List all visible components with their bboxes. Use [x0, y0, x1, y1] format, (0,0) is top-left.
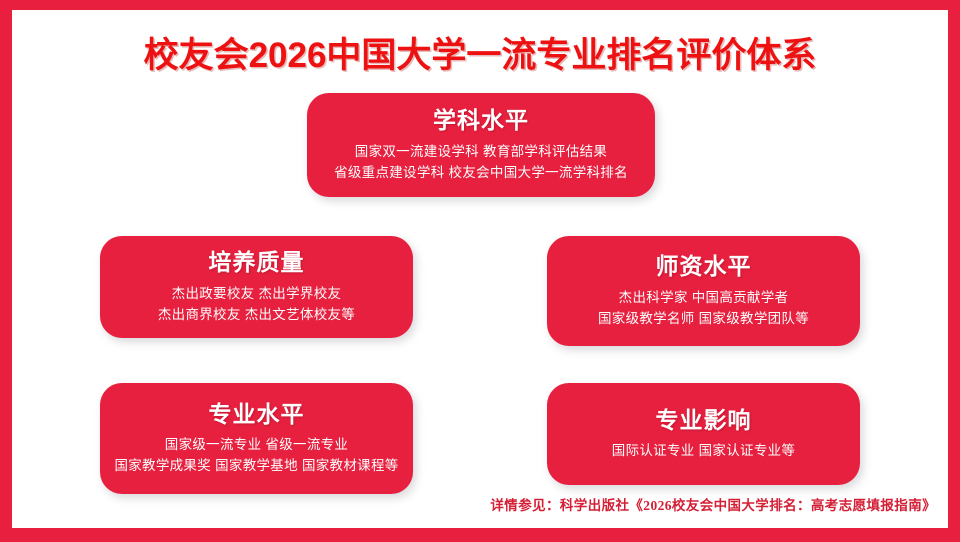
- footer-source-note: 详情参见：科学出版社《2026校友会中国大学排名：高考志愿填报指南》: [490, 494, 936, 514]
- card-major-influence-lines: 国际认证专业 国家认证专业等: [612, 441, 795, 462]
- card-major-influence[interactable]: 专业影响 国际认证专业 国家认证专业等: [547, 383, 860, 485]
- card-faculty-level-line-2: 国家级教学名师 国家级教学团队等: [598, 309, 809, 330]
- card-major-level[interactable]: 专业水平 国家级一流专业 省级一流专业 国家教学成果奖 国家教学基地 国家教材课…: [100, 383, 413, 494]
- card-training-quality-lines: 杰出政要校友 杰出学界校友 杰出商界校友 杰出文艺体校友等: [158, 284, 355, 326]
- card-faculty-level[interactable]: 师资水平 杰出科学家 中国高贡献学者 国家级教学名师 国家级教学团队等: [547, 236, 860, 346]
- card-discipline-line-1: 国家双一流建设学科 教育部学科评估结果: [334, 142, 628, 163]
- card-major-level-title: 专业水平: [209, 400, 305, 429]
- card-training-quality-line-2: 杰出商界校友 杰出文艺体校友等: [158, 305, 355, 326]
- card-major-influence-title: 专业影响: [656, 406, 752, 435]
- card-training-quality-title: 培养质量: [209, 248, 305, 277]
- card-faculty-level-title: 师资水平: [656, 252, 752, 281]
- card-discipline-line-2: 省级重点建设学科 校友会中国大学一流学科排名: [334, 163, 628, 184]
- page-title: 校友会2026中国大学一流专业排名评价体系: [12, 37, 948, 76]
- card-discipline-title: 学科水平: [433, 106, 529, 135]
- card-faculty-level-line-1: 杰出科学家 中国高贡献学者: [598, 288, 809, 309]
- card-faculty-level-lines: 杰出科学家 中国高贡献学者 国家级教学名师 国家级教学团队等: [598, 288, 809, 330]
- card-major-level-lines: 国家级一流专业 省级一流专业 国家教学成果奖 国家教学基地 国家教材课程等: [114, 435, 398, 477]
- card-major-level-line-2: 国家教学成果奖 国家教学基地 国家教材课程等: [114, 456, 398, 477]
- card-training-quality-line-1: 杰出政要校友 杰出学界校友: [158, 284, 355, 305]
- card-discipline[interactable]: 学科水平 国家双一流建设学科 教育部学科评估结果 省级重点建设学科 校友会中国大…: [307, 93, 655, 197]
- slide-frame: 校友会2026中国大学一流专业排名评价体系 学科水平 国家双一流建设学科 教育部…: [0, 0, 960, 542]
- card-major-influence-line-1: 国际认证专业 国家认证专业等: [612, 441, 795, 462]
- slide-canvas: 校友会2026中国大学一流专业排名评价体系 学科水平 国家双一流建设学科 教育部…: [12, 10, 948, 528]
- card-training-quality[interactable]: 培养质量 杰出政要校友 杰出学界校友 杰出商界校友 杰出文艺体校友等: [100, 236, 413, 338]
- card-discipline-lines: 国家双一流建设学科 教育部学科评估结果 省级重点建设学科 校友会中国大学一流学科…: [334, 142, 628, 184]
- card-major-level-line-1: 国家级一流专业 省级一流专业: [114, 435, 398, 456]
